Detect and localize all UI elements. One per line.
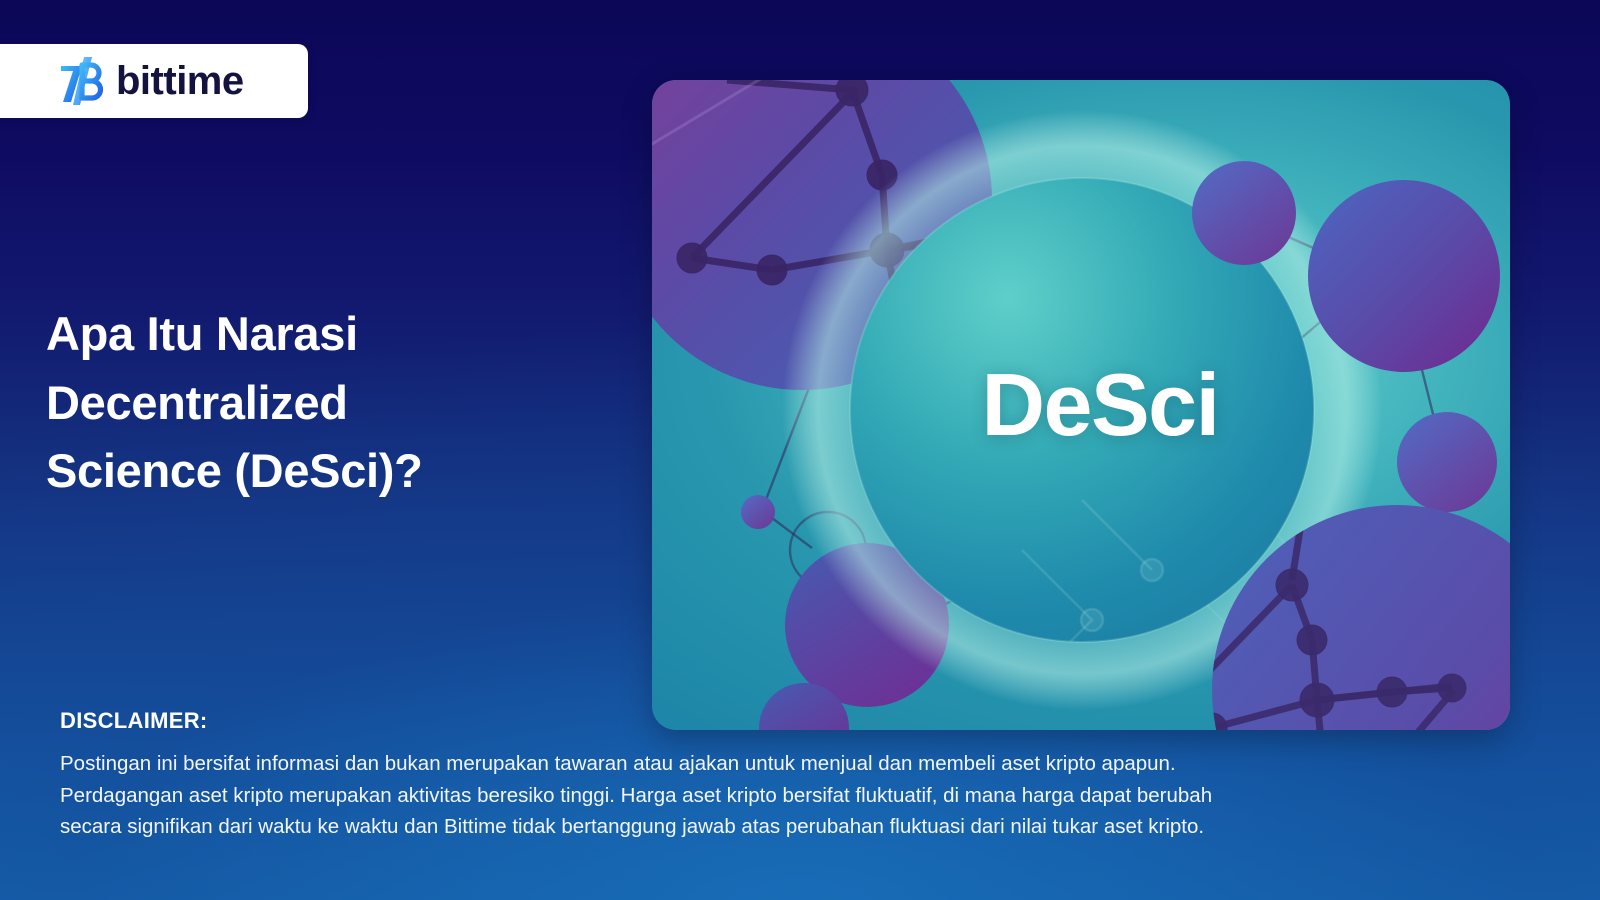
- disclaimer-line-1: Postingan ini bersifat informasi dan buk…: [60, 748, 1520, 780]
- disclaimer-block: DISCLAIMER: Postingan ini bersifat infor…: [60, 708, 1520, 843]
- page-title: Apa Itu Narasi Decentralized Science (De…: [46, 300, 606, 506]
- disclaimer-body: Postingan ini bersifat informasi dan buk…: [60, 748, 1520, 843]
- bittime-bitcoin-b-icon: [58, 55, 104, 107]
- page-title-line-1: Apa Itu Narasi: [46, 300, 606, 369]
- page-title-line-2: Decentralized: [46, 369, 606, 438]
- brand-name: bittime: [116, 61, 244, 101]
- disclaimer-title: DISCLAIMER:: [60, 708, 1520, 734]
- disclaimer-line-3: secara signifikan dari waktu ke waktu da…: [60, 811, 1520, 843]
- disclaimer-line-2: Perdagangan aset kripto merupakan aktivi…: [60, 780, 1520, 812]
- brand-logo-badge[interactable]: bittime: [0, 44, 308, 118]
- page-title-line-3: Science (DeSci)?: [46, 437, 606, 506]
- molecule-node: [741, 495, 775, 529]
- desci-molecule-illustration: [652, 80, 1510, 730]
- desci-hero-card: DeSci: [652, 80, 1510, 730]
